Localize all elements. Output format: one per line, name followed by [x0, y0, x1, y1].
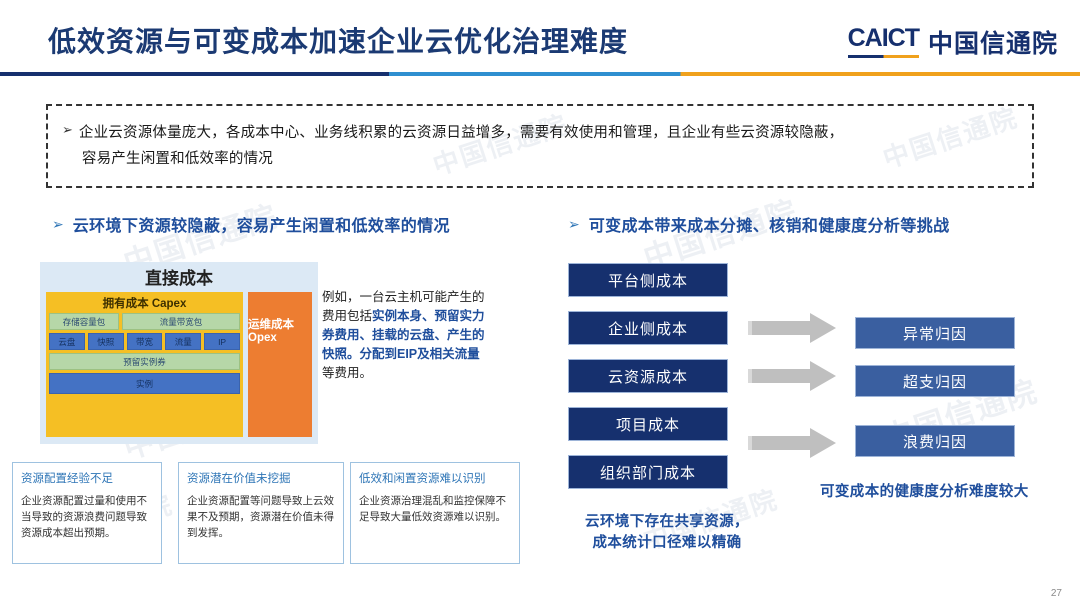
capex-cell-ip: IP: [204, 333, 240, 350]
page-number: 27: [1051, 588, 1062, 599]
section-heading-left-label: 云环境下资源较隐蔽，容易产生闲置和低效率的情况: [73, 212, 450, 236]
issue-card: 资源配置经验不足 企业资源配置过量和使用不当导致的资源浪费问题导致资源成本超出预…: [12, 462, 162, 564]
arrow-right-icon: [748, 427, 836, 459]
bullet-arrow-icon: ➢: [62, 120, 73, 140]
capex-cell-storage-package: 存储容量包: [49, 313, 119, 330]
diagram-title: 直接成本: [44, 266, 314, 292]
cost-box-enterprise: 企业侧成本: [568, 311, 728, 345]
capex-package-row: 存储容量包 流量带宽包: [49, 313, 240, 330]
logo-latin-wrap: CAICT: [848, 24, 919, 58]
example-text: 例如，一台云主机可能产生的费用包括实例本身、预留实力券费用、挂载的云盘、产生的快…: [322, 288, 490, 383]
callout-line-1: 企业云资源体量庞大，各成本中心、业务线积累的云资源日益增多，需要有效使用和管理，…: [79, 125, 843, 141]
caption-shared-resources-line1: 云环境下存在共享资源，: [585, 514, 749, 530]
capex-cell-snapshot: 快照: [88, 333, 124, 350]
slide-header: 低效资源与可变成本加速企业云优化治理难度 CAICT 中国信通院: [0, 0, 1080, 72]
opex-group: 运维成本Opex: [248, 292, 312, 437]
capex-group: 拥有成本 Capex 存储容量包 流量带宽包 云盘 快照 带宽 流量 IP 预留…: [46, 292, 243, 437]
issue-card: 资源潜在价值未挖掘 企业资源配置等问题导致上云效果不及预期，资源潜在价值未得到发…: [178, 462, 344, 564]
issue-card: 低效和闲置资源难以识别 企业资源治理混乱和监控保障不足导致大量低效资源难以识别。: [350, 462, 520, 564]
logo-latin: CAICT: [848, 24, 919, 52]
capex-cell-instance: 实例: [49, 373, 240, 394]
arrow-right-icon: [748, 312, 836, 344]
capex-reserved-row: 预留实例券: [49, 353, 240, 370]
section-heading-left: ➢ 云环境下资源较隐蔽，容易产生闲置和低效率的情况: [52, 212, 450, 236]
page-title: 低效资源与可变成本加速企业云优化治理难度: [48, 20, 628, 60]
logo-chinese: 中国信通院: [928, 24, 1058, 60]
issue-card-title: 资源配置经验不足: [21, 470, 153, 486]
cost-box-platform: 平台侧成本: [568, 263, 728, 297]
issue-card-title: 资源潜在价值未挖掘: [187, 470, 335, 486]
capex-cell-bandwidth: 带宽: [127, 333, 163, 350]
section-heading-right: ➢ 可变成本带来成本分摊、核销和健康度分析等挑战: [568, 212, 950, 236]
issue-card-body: 企业资源配置过量和使用不当导致的资源浪费问题导致资源成本超出预期。: [21, 493, 153, 541]
capex-cell-reserved-coupon: 预留实例券: [49, 353, 240, 370]
example-text-part2: 等费用。: [322, 366, 372, 380]
cost-box-cloud-resource: 云资源成本: [568, 359, 728, 393]
bullet-arrow-icon: ➢: [568, 216, 580, 233]
caict-logo: CAICT 中国信通院: [848, 24, 1058, 60]
arrow-right-icon: [748, 360, 836, 392]
direct-cost-diagram: 直接成本 拥有成本 Capex 存储容量包 流量带宽包 云盘 快照 带宽 流量 …: [40, 262, 318, 444]
section-heading-right-label: 可变成本带来成本分摊、核销和健康度分析等挑战: [589, 212, 950, 236]
slide: 中国信通院 中国信通院 中国信通院 中国信通院 中国信通院 中国信通院 中国信通…: [0, 0, 1080, 607]
capex-title: 拥有成本 Capex: [49, 295, 240, 313]
issue-card-body: 企业资源治理混乱和监控保障不足导致大量低效资源难以识别。: [359, 493, 511, 525]
attribution-box-anomaly: 异常归因: [855, 317, 1015, 349]
summary-callout: ➢ 企业云资源体量庞大，各成本中心、业务线积累的云资源日益增多，需要有效使用和管…: [46, 104, 1034, 188]
bullet-arrow-icon: ➢: [52, 216, 64, 233]
header-rule: [0, 72, 1080, 76]
logo-underline-bar: [848, 55, 919, 58]
cost-box-project: 项目成本: [568, 407, 728, 441]
caption-shared-resources: 云环境下存在共享资源， 成本统计口径难以精确: [562, 512, 772, 554]
attribution-box-overspend: 超支归因: [855, 365, 1015, 397]
capex-item-row: 云盘 快照 带宽 流量 IP: [49, 333, 240, 350]
capex-cell-bandwidth-package: 流量带宽包: [122, 313, 240, 330]
capex-cell-disk: 云盘: [49, 333, 85, 350]
issue-card-body: 企业资源配置等问题导致上云效果不及预期，资源潜在价值未得到发挥。: [187, 493, 335, 541]
issue-card-title: 低效和闲置资源难以识别: [359, 470, 511, 486]
capex-cell-traffic: 流量: [165, 333, 201, 350]
cost-box-organization: 组织部门成本: [568, 455, 728, 489]
attribution-box-waste: 浪费归因: [855, 425, 1015, 457]
capex-instance-row: 实例: [49, 373, 240, 394]
callout-line-2: 容易产生闲置和低效率的情况: [79, 146, 843, 172]
opex-title: 运维成本Opex: [248, 316, 312, 344]
caption-shared-resources-line2: 成本统计口径难以精确: [593, 535, 742, 551]
caption-health-analysis: 可变成本的健康度分析难度较大: [820, 482, 1029, 503]
